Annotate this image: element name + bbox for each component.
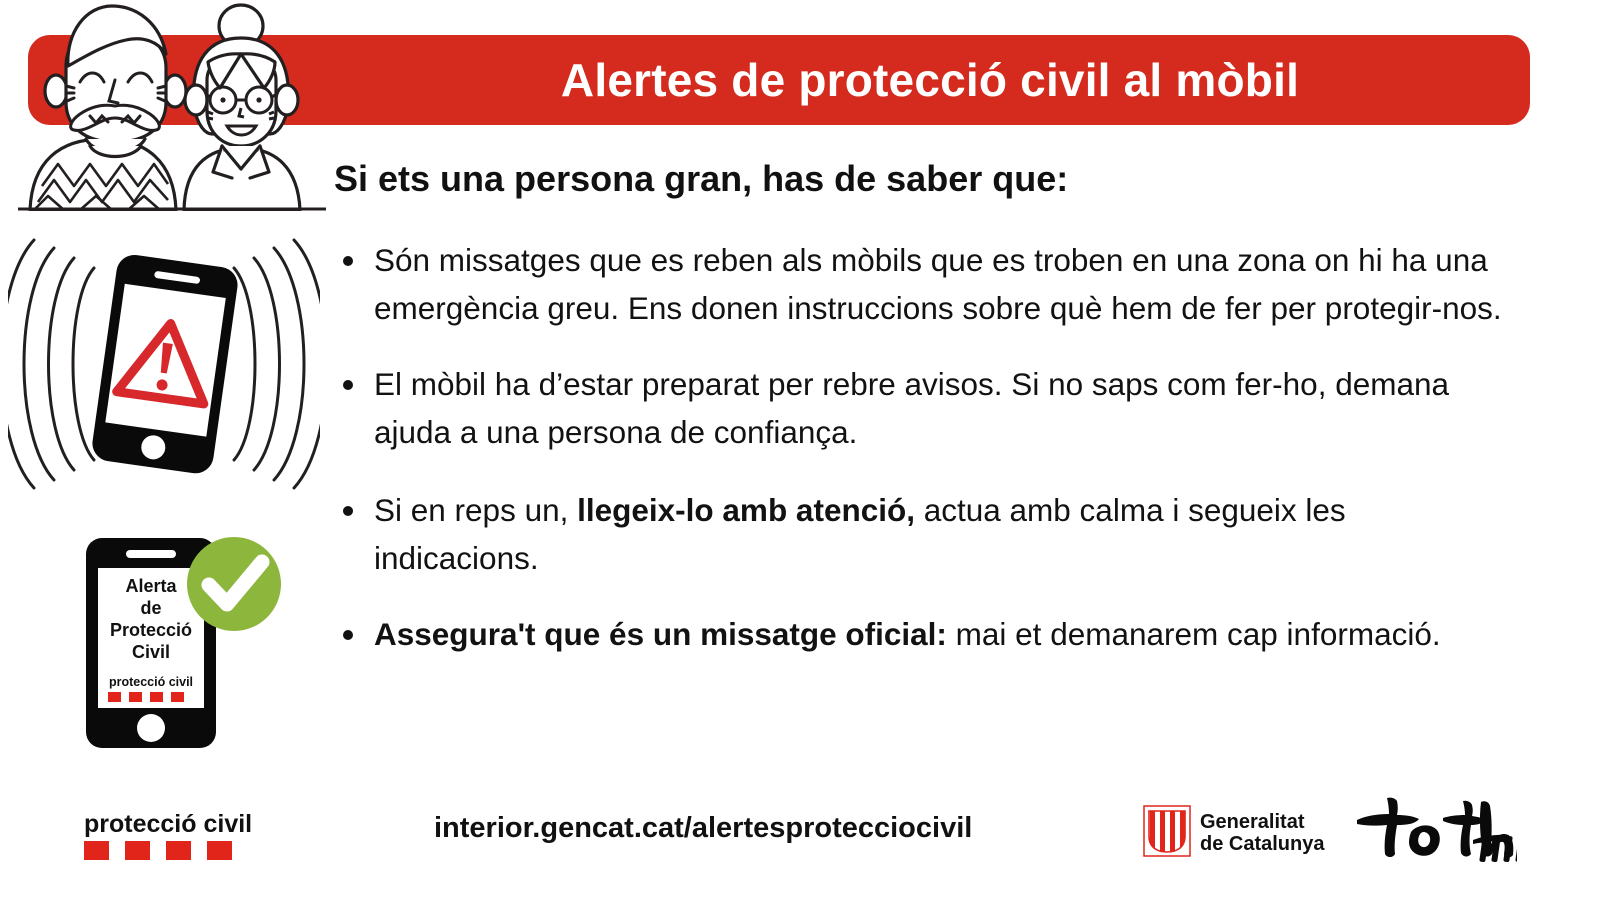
tothom-wordmark-logo (1345, 792, 1517, 868)
list-item: El mòbil ha d’estar preparat per rebre a… (334, 360, 1509, 456)
list-item: Assegura't que és un missatge oficial: m… (334, 610, 1509, 658)
bullet-1-text: Són missatges que es reben als mòbils qu… (374, 242, 1502, 326)
bullet-3-text-pre: Si en reps un, (374, 492, 577, 528)
proteccio-civil-logo: protecció civil (84, 806, 270, 864)
generalitat-line1: Generalitat (1200, 811, 1305, 833)
bullet-3-text-emphasis: llegeix-lo amb atenció, (577, 492, 915, 528)
catalan-shield-icon (1144, 806, 1190, 856)
page-title: Alertes de protecció civil al mòbil (330, 35, 1530, 125)
phone-screen-line1: Alerta (125, 576, 177, 596)
phone-screen-logo-text: protecció civil (109, 675, 193, 689)
list-item: Són missatges que es reben als mòbils qu… (334, 236, 1509, 332)
phone-screen-line2: de (140, 598, 161, 618)
generalitat-de-catalunya-logo: Generalitat de Catalunya (1142, 800, 1332, 862)
section-subtitle: Si ets una persona gran, has de saber qu… (334, 158, 1068, 200)
bullet-2-text: El mòbil ha d’estar preparat per rebre a… (374, 366, 1449, 450)
infographic-poster: Alertes de protecció civil al mòbil (0, 0, 1600, 900)
generalitat-line2: de Catalunya (1200, 833, 1325, 855)
proteccio-civil-logo-squares (84, 841, 232, 860)
footer-url[interactable]: interior.gencat.cat/alertesprotecciocivi… (434, 812, 972, 845)
bullet-4-text-emphasis: Assegura't que és un missatge oficial: (374, 616, 947, 652)
vibrating-phone-warning-icon (8, 238, 320, 490)
bullet-4-text-post: mai et demanarem cap informació. (947, 616, 1441, 652)
phone-official-alert-check-icon: Alerta de Protecció Civil protecció civi… (78, 522, 314, 758)
phone-screen-line4: Civil (132, 642, 170, 662)
list-item: Si en reps un, llegeix-lo amb atenció, a… (334, 486, 1509, 582)
proteccio-civil-logo-text: protecció civil (84, 810, 252, 838)
bullet-list: Són missatges que es reben als mòbils qu… (334, 236, 1509, 658)
elderly-couple-illustration (8, 0, 338, 211)
phone-screen-line3: Protecció (110, 620, 192, 640)
